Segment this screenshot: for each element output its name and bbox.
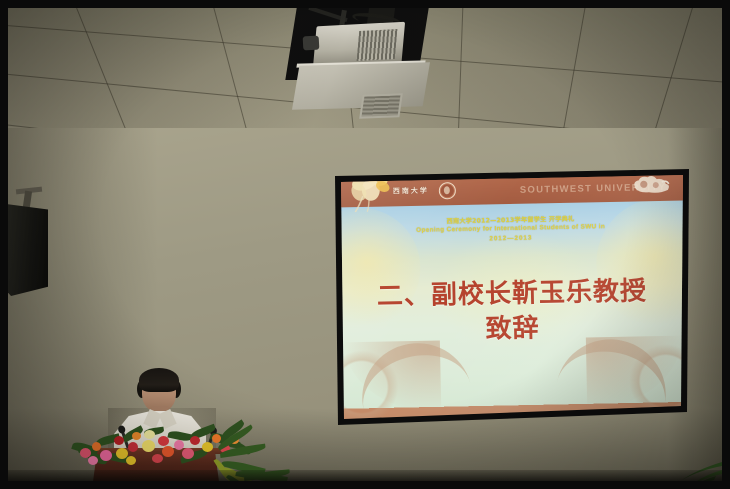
slide-title-line2: 致辞	[337, 308, 688, 350]
screen-surface: 西南大学 SOUTHWEST UNIVERSITY 西南大学2012—2013学…	[327, 167, 689, 427]
slide-title-line1: 二、副校长靳玉乐教授	[337, 273, 688, 315]
wall-speaker	[8, 204, 48, 296]
foreground-shadow	[8, 470, 722, 481]
lecture-room-scene: 西南大学 SOUTHWEST UNIVERSITY 西南大学2012—2013学…	[8, 8, 722, 481]
slide-title: 二、副校长靳玉乐教授 致辞	[337, 273, 688, 350]
photograph: 西南大学 SOUTHWEST UNIVERSITY 西南大学2012—2013学…	[0, 0, 730, 489]
cloud-motif-graphic	[629, 173, 673, 196]
university-name-cn: 西南大学	[393, 186, 429, 197]
presentation-slide: 西南大学 SOUTHWEST UNIVERSITY 西南大学2012—2013学…	[335, 168, 689, 427]
projection-screen[interactable]: 西南大学 SOUTHWEST UNIVERSITY 西南大学2012—2013学…	[327, 167, 689, 427]
university-seal	[439, 182, 456, 199]
speaker-hair	[139, 368, 179, 392]
